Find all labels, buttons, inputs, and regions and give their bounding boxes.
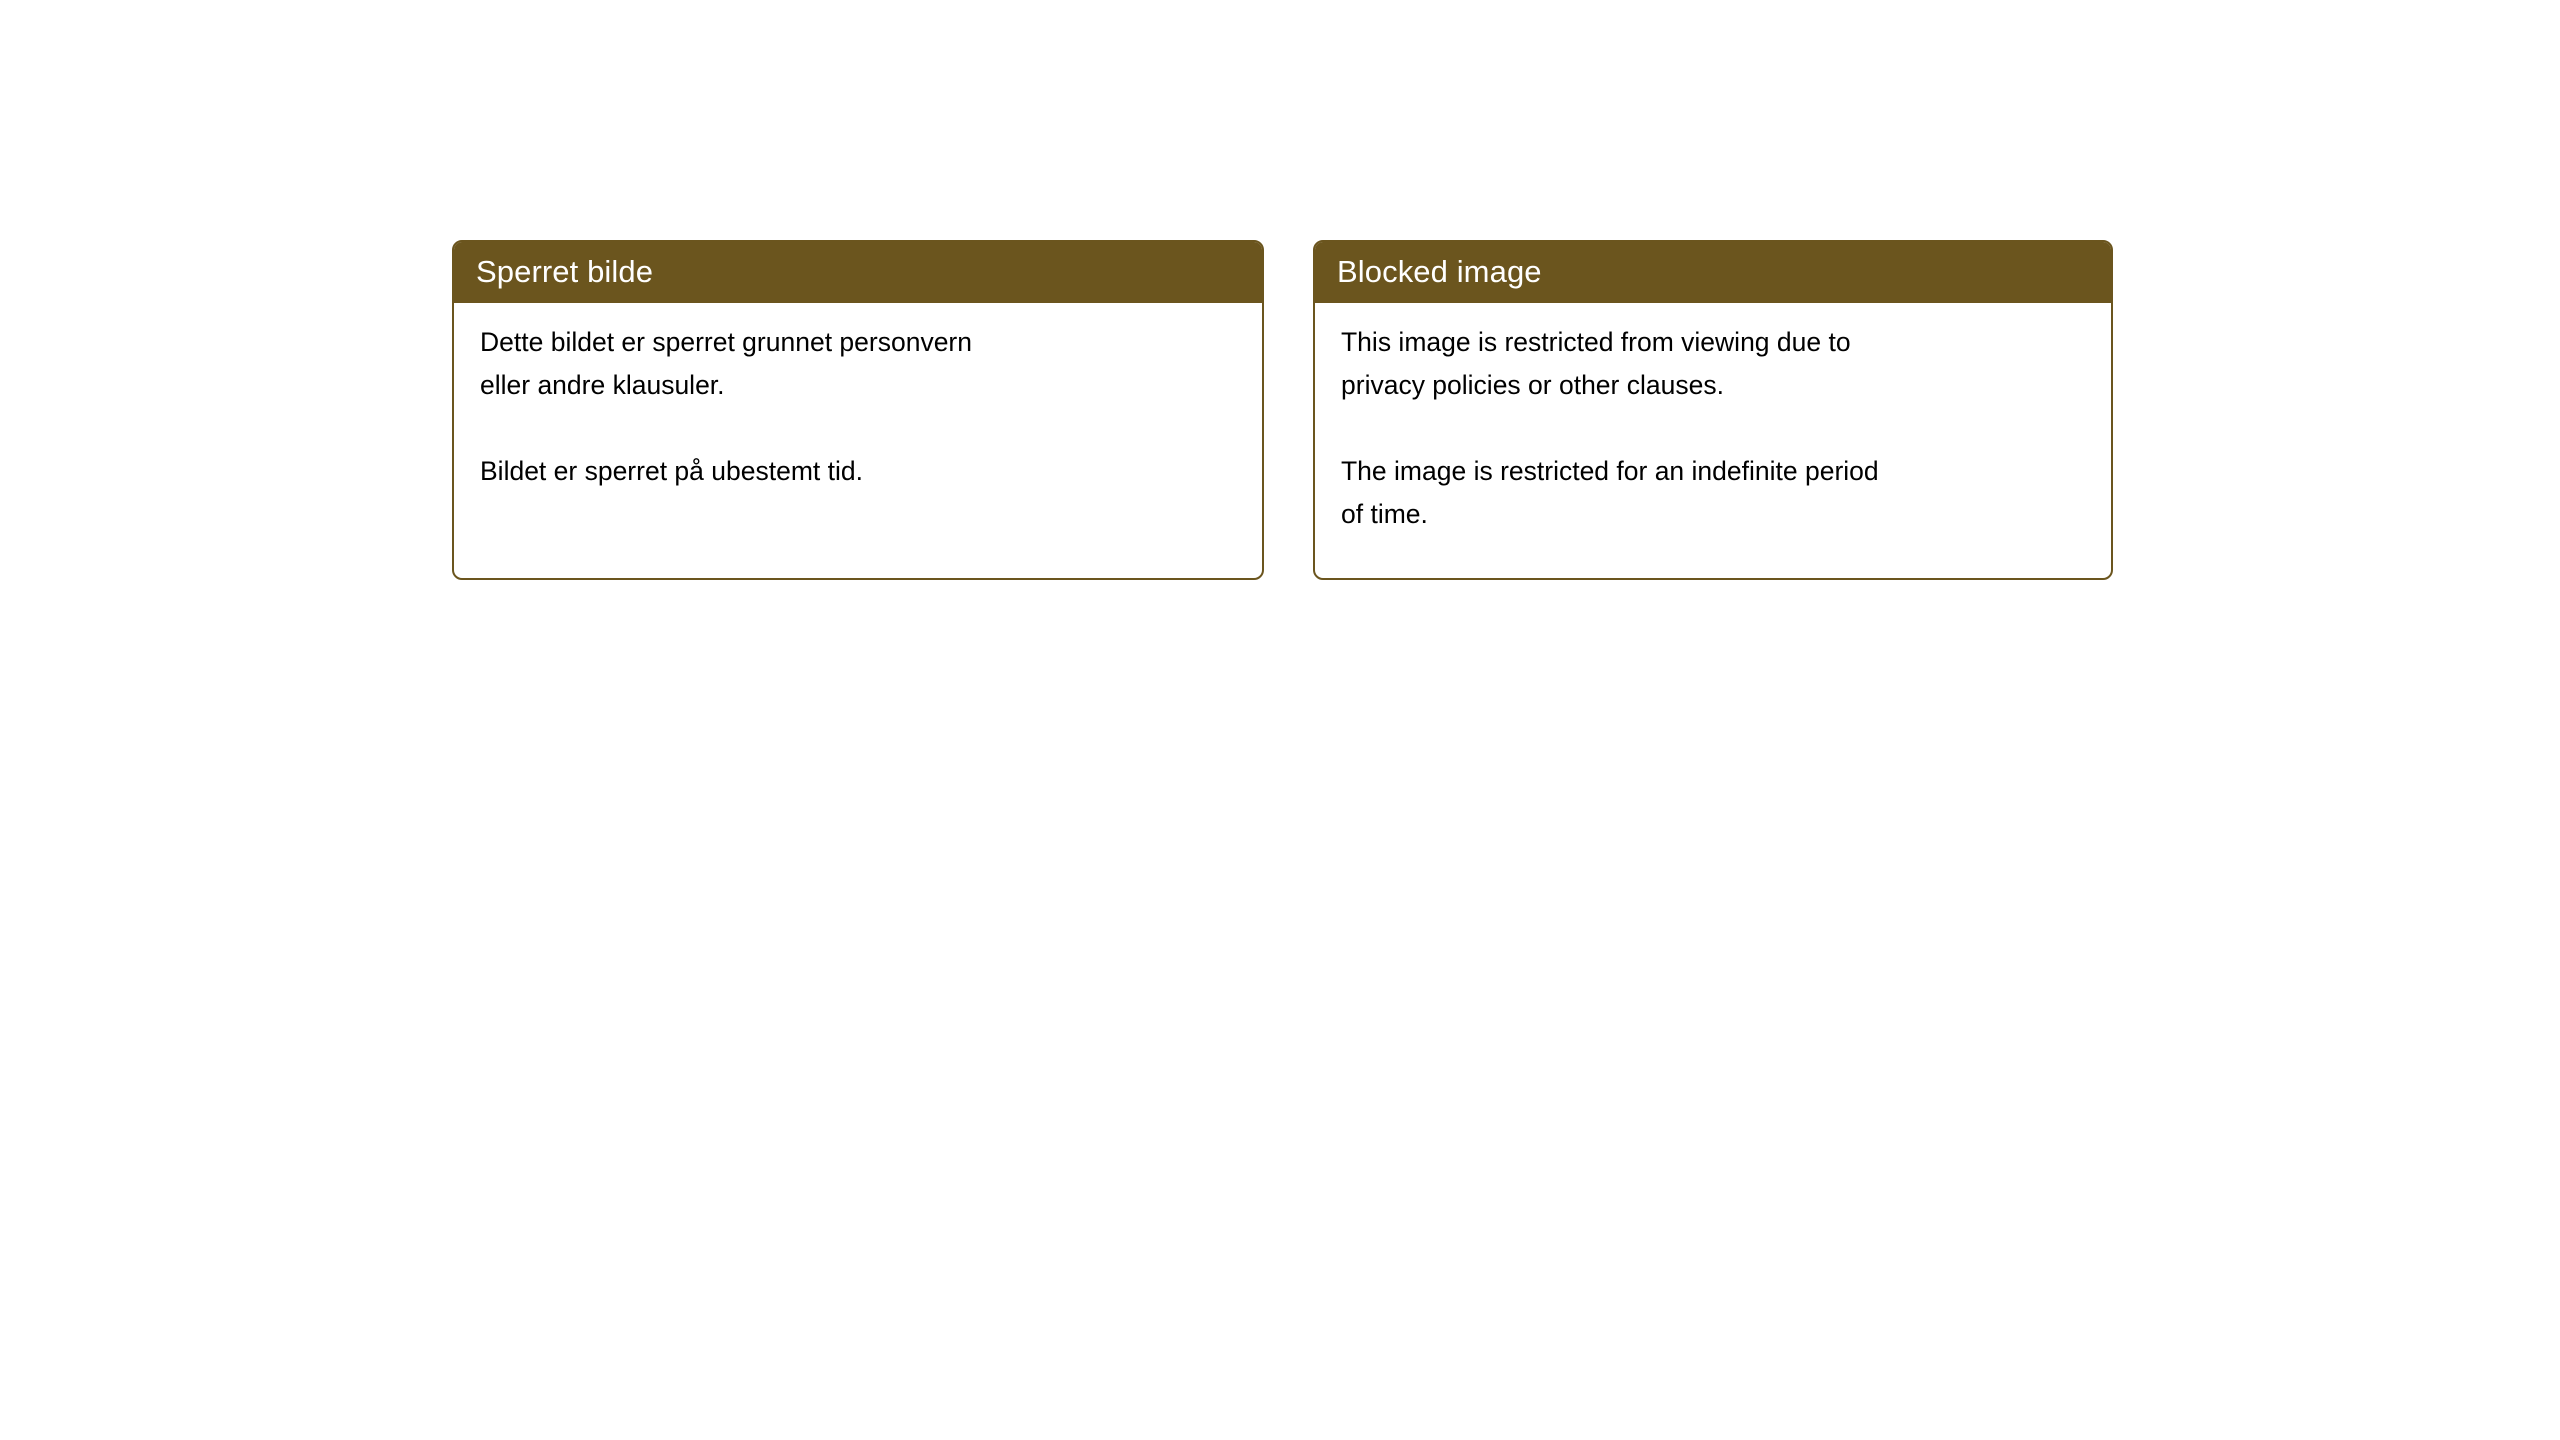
card-body-english: This image is restricted from viewing du… [1315, 303, 2111, 536]
card-paragraph-english-2: The image is restricted for an indefinit… [1341, 450, 2091, 536]
blocked-image-card-english: Blocked image This image is restricted f… [1313, 240, 2113, 580]
card-title-english: Blocked image [1337, 254, 1542, 290]
card-paragraph-norwegian-2: Bildet er sperret på ubestemt tid. [480, 450, 1242, 493]
blocked-image-card-norwegian: Sperret bilde Dette bildet er sperret gr… [452, 240, 1264, 580]
blocked-image-notice-area: Sperret bilde Dette bildet er sperret gr… [0, 0, 2560, 1440]
card-header-norwegian: Sperret bilde [453, 241, 1263, 303]
card-paragraph-norwegian-1: Dette bildet er sperret grunnet personve… [480, 321, 1242, 407]
card-body-norwegian: Dette bildet er sperret grunnet personve… [454, 303, 1262, 493]
card-title-norwegian: Sperret bilde [476, 254, 653, 290]
card-paragraph-english-1: This image is restricted from viewing du… [1341, 321, 2091, 407]
card-header-english: Blocked image [1314, 241, 2112, 303]
